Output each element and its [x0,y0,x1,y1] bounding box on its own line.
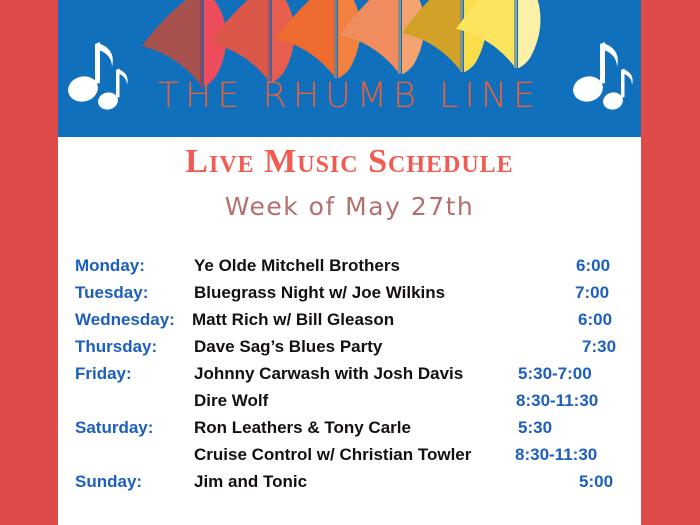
brand-wordmark: THE RHUMB LINE [58,76,641,116]
day-label: Saturday: [75,418,153,438]
header-banner: THE RHUMB LINE [58,0,641,137]
show-time: 5:00 [579,472,613,492]
page-title: Live Music Schedule [58,143,641,181]
page-subtitle: Week of May 27th [58,192,641,221]
schedule-row: Wednesday: Matt Rich w/ Bill Gleason 6:0… [58,310,641,337]
schedule-row: Thursday: Dave Sag’s Blues Party 7:30 [58,337,641,364]
act-name: Johnny Carwash with Josh Davis [194,364,463,384]
day-label: Monday: [75,256,145,276]
act-name: Bluegrass Night w/ Joe Wilkins [194,283,445,303]
show-time: 7:00 [575,283,609,303]
act-name: Dave Sag’s Blues Party [194,337,382,357]
show-time: 6:00 [576,256,610,276]
schedule-row: Dire Wolf 8:30-11:30 [58,391,641,418]
schedule-list: Monday: Ye Olde Mitchell Brothers 6:00 T… [58,256,641,499]
sail-1 [142,0,226,88]
act-name: Jim and Tonic [194,472,307,492]
day-label: Thursday: [75,337,157,357]
schedule-row: Cruise Control w/ Christian Towler 8:30-… [58,445,641,472]
show-time: 5:30 [518,418,552,438]
show-time: 6:00 [578,310,612,330]
act-name: Dire Wolf [194,391,268,411]
day-label: Tuesday: [75,283,148,303]
show-time: 5:30-7:00 [518,364,592,384]
poster-canvas: THE RHUMB LINE Live Music Schedule Week … [58,0,641,525]
schedule-row: Sunday: Jim and Tonic 5:00 [58,472,641,499]
show-time: 7:30 [582,337,616,357]
live-music-schedule-poster: THE RHUMB LINE Live Music Schedule Week … [0,0,700,525]
act-name: Ye Olde Mitchell Brothers [194,256,400,276]
day-label: Friday: [75,364,132,384]
day-label: Sunday: [75,472,142,492]
schedule-row: Monday: Ye Olde Mitchell Brothers 6:00 [58,256,641,283]
show-time: 8:30-11:30 [516,391,598,411]
schedule-row: Saturday: Ron Leathers & Tony Carle 5:30 [58,418,641,445]
sail-2 [210,0,294,82]
act-name: Matt Rich w/ Bill Gleason [192,310,394,330]
act-name: Cruise Control w/ Christian Towler [194,445,471,465]
act-name: Ron Leathers & Tony Carle [194,418,411,438]
schedule-row: Friday: Johnny Carwash with Josh Davis 5… [58,364,641,391]
day-label: Wednesday: [75,310,175,330]
show-time: 8:30-11:30 [515,445,597,465]
schedule-row: Tuesday: Bluegrass Night w/ Joe Wilkins … [58,283,641,310]
